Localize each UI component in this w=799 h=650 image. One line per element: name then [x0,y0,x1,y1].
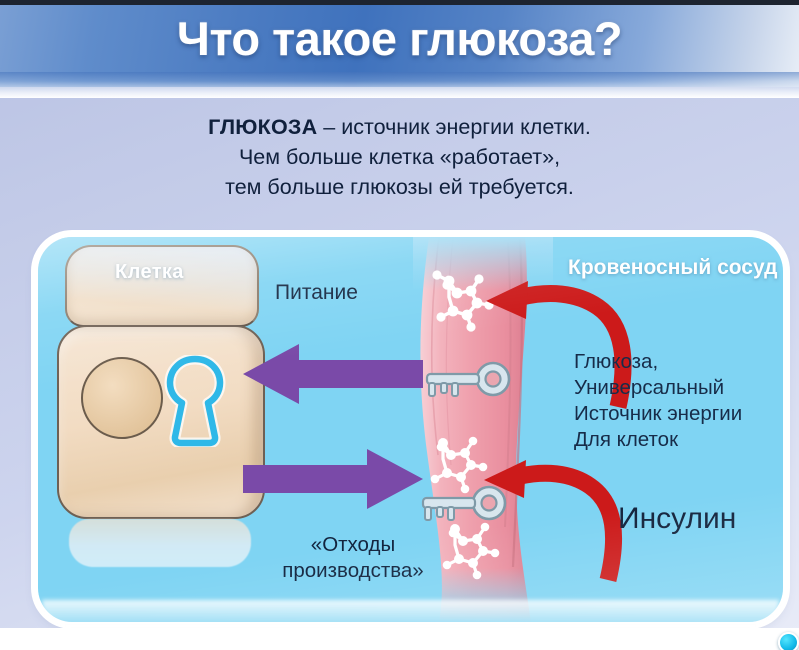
waste-label-line-1: «Отходы [238,532,468,558]
glucose-caption-line-2: Универсальный [574,375,742,401]
keyhole-icon [163,355,227,447]
intro-line-2: Чем больше клетка «работает», [0,142,799,172]
cyan-dot-icon[interactable] [778,632,799,650]
intro-keyword: ГЛЮКОЗА [208,115,317,139]
intro-paragraph: ГЛЮКОЗА – источник энергии клетки. Чем б… [0,112,799,202]
insulin-label: Инсулин [618,502,736,536]
purple-left-arrow-icon [243,342,423,406]
nutrition-label: Питание [275,281,358,305]
cell-upper-segment [65,245,259,327]
vessel-label-line-2: сосуд [717,256,777,279]
waste-label: «Отходы производства» [238,532,468,584]
vessel-label: Кровеносный сосуд [568,255,777,281]
slide-root: Что такое глюкоза? ГЛЮКОЗА – источник эн… [0,0,799,650]
vessel-label-line-1: Кровеносный [568,256,711,279]
glucose-caption-line-4: Для клеток [574,427,742,453]
diagram-panel: Клетка [38,237,783,622]
intro-line-1-rest: – источник энергии клетки. [317,115,591,139]
cell-reflection [69,519,251,567]
cell-label: Клетка [115,261,184,284]
cell-body [57,325,265,519]
banner-fade [0,72,799,98]
bottom-strip [0,628,799,650]
glucose-caption-line-1: Глюкоза, [574,349,742,375]
glucose-caption-line-3: Источник энергии [574,401,742,427]
waste-label-line-2: производства» [238,558,468,584]
purple-right-arrow-icon [243,447,423,511]
nucleus-icon [81,357,163,439]
glucose-caption: Глюкоза, Универсальный Источник энергии … [574,349,742,453]
cell-illustration: Клетка [51,237,276,582]
intro-line-1: ГЛЮКОЗА – источник энергии клетки. [0,112,799,142]
page-title: Что такое глюкоза? [0,11,799,66]
panel-bottom-reflection [42,600,779,630]
intro-line-3: тем больше глюкозы ей требуется. [0,172,799,202]
